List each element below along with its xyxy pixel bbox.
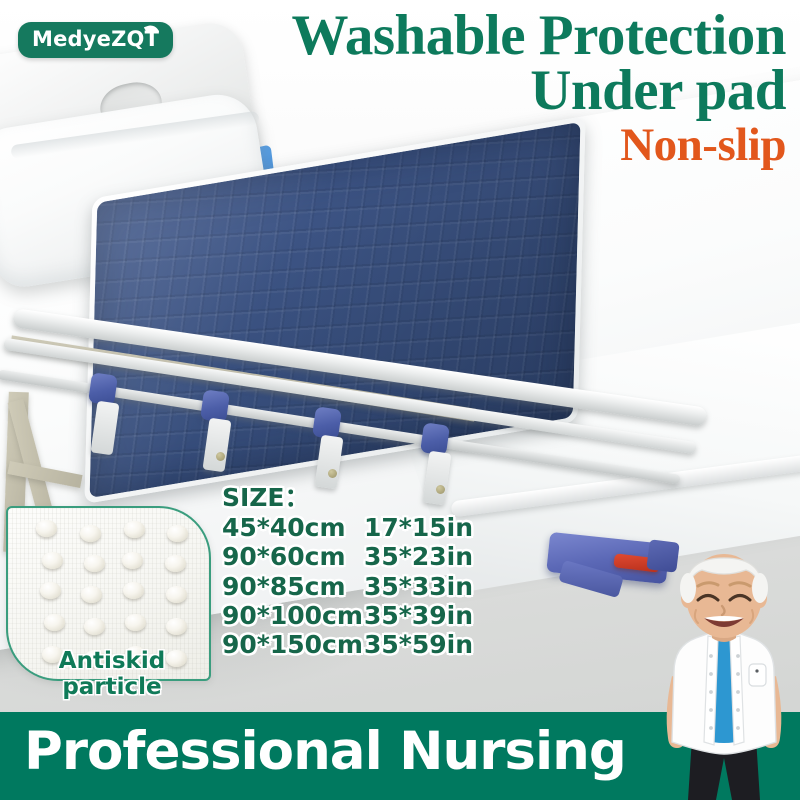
size-list: SIZE： 45*40cm 17*15in 90*60cm 35*23in 90…	[222, 484, 473, 659]
antiskid-dot	[165, 555, 186, 572]
size-cm-value: 90*150cm	[222, 630, 364, 659]
headline-block: Washable Protection Under pad Non-slip	[186, 8, 786, 171]
antiskid-dot	[42, 552, 63, 569]
antiskid-dot	[166, 586, 187, 603]
size-inch-value: 35*39in	[364, 601, 473, 630]
size-row: 90*85cm 35*33in	[222, 572, 473, 601]
antiskid-dot	[36, 520, 57, 537]
rail-post	[90, 401, 119, 456]
antiskid-particle-label: Antiskid particle	[6, 648, 218, 700]
antiskid-dot	[122, 552, 143, 569]
antiskid-dot	[123, 582, 144, 599]
antiskid-dot	[124, 521, 145, 538]
rail-screw	[216, 452, 225, 461]
bottom-banner-text: Professional Nursing	[24, 716, 626, 788]
antiskid-dot	[166, 618, 187, 635]
antiskid-dot	[80, 525, 101, 542]
size-list-title: SIZE：	[222, 484, 473, 512]
headline-line-3-nonslip: Non-slip	[186, 119, 786, 172]
brand-logo[interactable]: MedyeZQT	[18, 22, 173, 58]
size-inch-value: 35*59in	[364, 630, 473, 659]
rail-post	[202, 418, 231, 473]
elderly-man-illustration	[648, 552, 800, 800]
size-inch-value: 17*15in	[364, 513, 473, 542]
size-cm-value: 45*40cm	[222, 513, 364, 542]
antiskid-dot	[125, 614, 146, 631]
size-cm-value: 90*85cm	[222, 572, 364, 601]
headline-line-2: Under pad	[186, 63, 786, 118]
antiskid-dot	[84, 555, 105, 572]
size-row: 90*60cm 35*23in	[222, 542, 473, 571]
size-cm-value: 90*60cm	[222, 542, 364, 571]
size-row: 45*40cm 17*15in	[222, 513, 473, 542]
size-row: 90*100cm 35*39in	[222, 601, 473, 630]
antiskid-dot	[167, 525, 188, 542]
size-cm-value: 90*100cm	[222, 601, 364, 630]
headline-line-1: Washable Protection	[186, 8, 786, 63]
rail-post	[314, 435, 343, 490]
rail-screw	[328, 469, 337, 478]
size-row: 90*150cm 35*59in	[222, 630, 473, 659]
product-poster: MedyeZQT Washable Protection Under pad N…	[0, 0, 800, 800]
antiskid-dot	[81, 586, 102, 603]
antiskid-dot	[44, 614, 65, 631]
size-inch-value: 35*23in	[364, 542, 473, 571]
antiskid-dot	[40, 582, 61, 599]
brand-logo-text: MedyeZQT	[32, 29, 159, 50]
antiskid-dot	[84, 618, 105, 635]
size-inch-value: 35*33in	[364, 572, 473, 601]
